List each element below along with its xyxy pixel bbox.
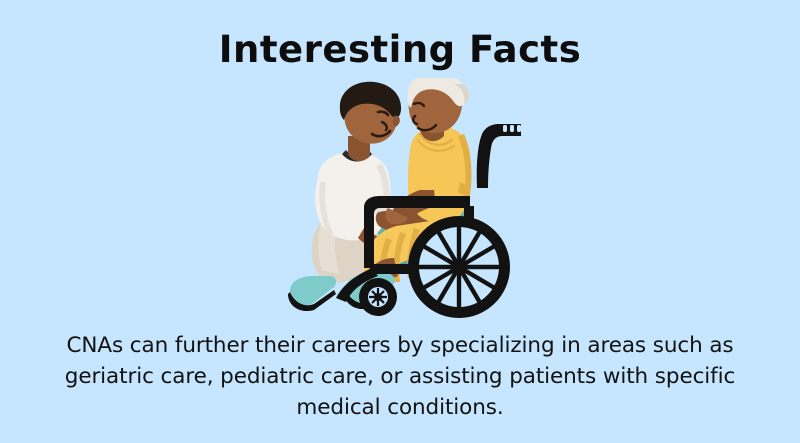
page-title: Interesting Facts — [0, 30, 800, 71]
infographic-card: Interesting Facts — [0, 0, 800, 443]
body-line-1: CNAs can further their careers by specia… — [40, 330, 760, 361]
wheelchair-push-handle-icon — [477, 124, 521, 188]
caregiver-and-wheelchair-patient-illustration — [268, 78, 534, 320]
wheelchair-large-wheel — [408, 216, 510, 318]
body-text: CNAs can further their careers by specia… — [40, 330, 760, 423]
body-line-2: geriatric care, pediatric care, or assis… — [40, 361, 760, 392]
body-line-3: medical conditions. — [40, 392, 760, 423]
wheelchair-caster-wheel — [359, 278, 397, 316]
